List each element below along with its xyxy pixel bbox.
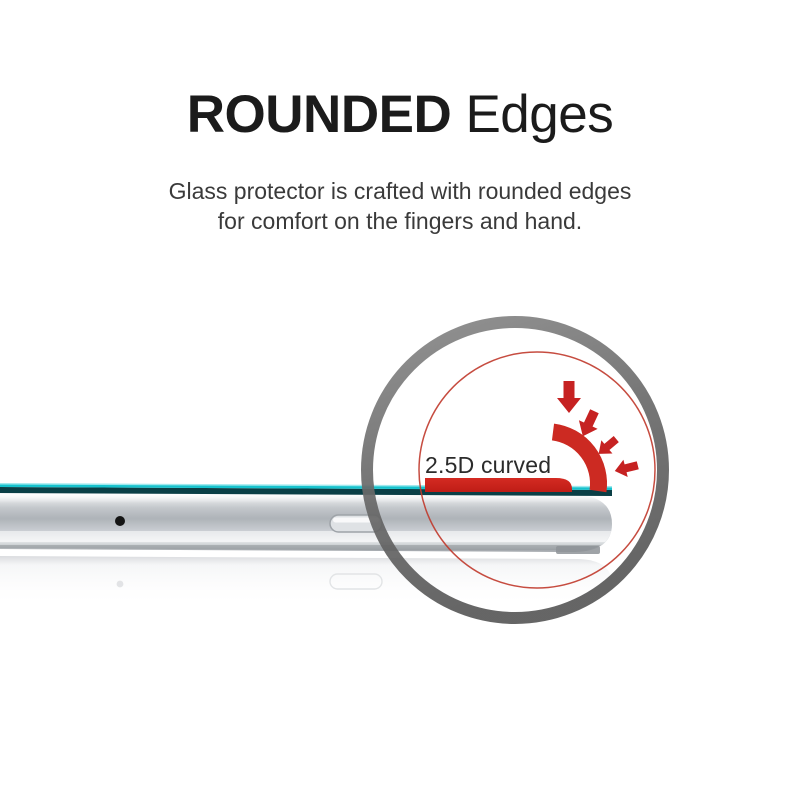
phone-side-profile bbox=[0, 483, 620, 554]
reflection-body bbox=[0, 556, 612, 606]
impact-arrow-1-icon bbox=[557, 381, 581, 413]
reflection-mic-hole-icon bbox=[117, 581, 124, 588]
phone-lower-highlight bbox=[0, 531, 620, 542]
product-illustration bbox=[0, 0, 800, 800]
glass-cross-section-bar bbox=[425, 478, 572, 492]
product-feature-banner: ROUNDED Edges Glass protector is crafted… bbox=[0, 0, 800, 800]
callout-label-2-5d-curved: 2.5D curved bbox=[425, 452, 625, 478]
illustration-svg bbox=[0, 0, 800, 800]
bottom-port-notch bbox=[556, 546, 600, 554]
microphone-hole-icon bbox=[115, 516, 125, 526]
phone-reflection bbox=[0, 556, 612, 606]
